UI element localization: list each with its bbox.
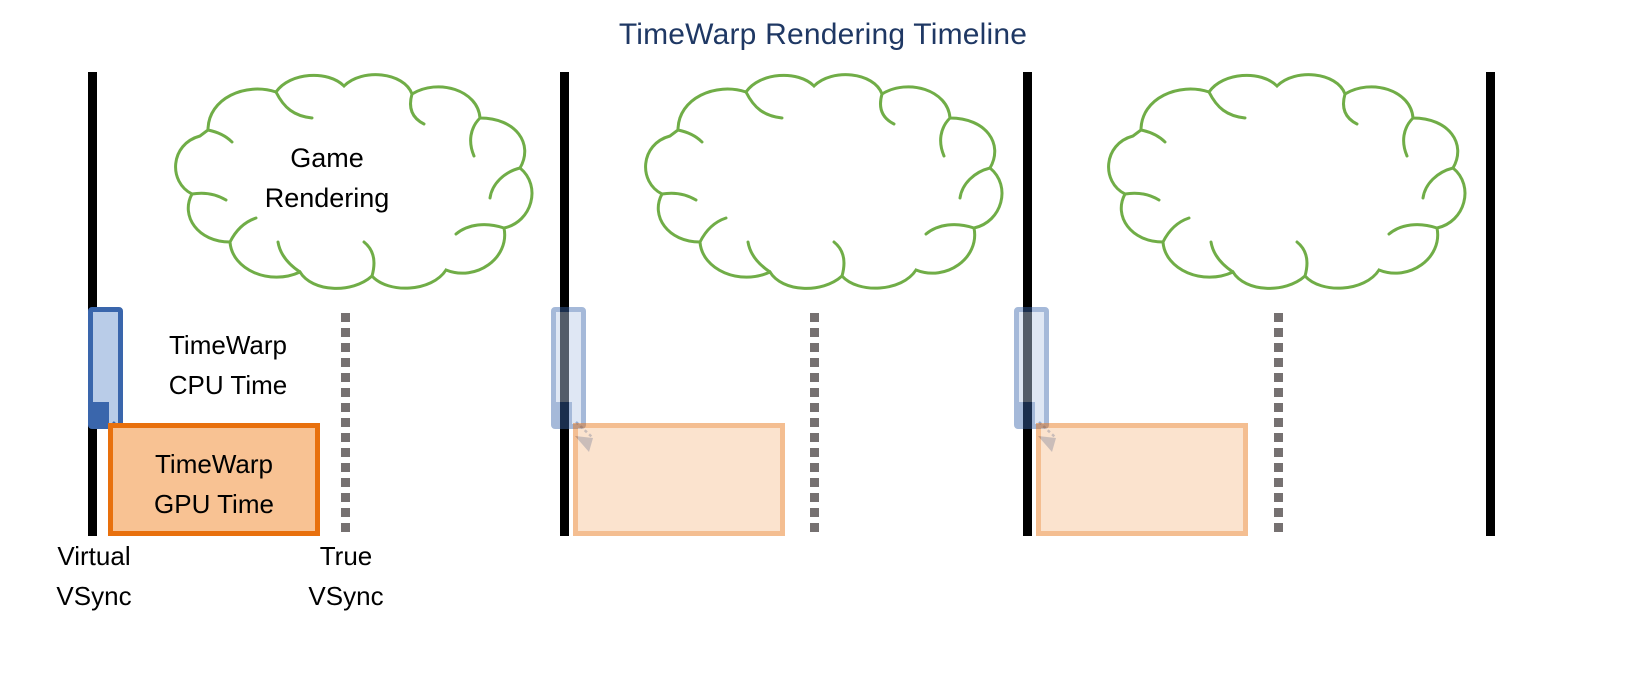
dotted-vertical-line-icon bbox=[1274, 478, 1283, 487]
dotted-vertical-line-icon bbox=[341, 343, 350, 352]
timewarp-cpu-box bbox=[1014, 307, 1049, 429]
game-rendering-cloud bbox=[582, 70, 1012, 290]
dotted-vertical-line-icon bbox=[1274, 388, 1283, 397]
dotted-vertical-line-icon bbox=[810, 508, 819, 517]
dotted-vertical-line-icon bbox=[810, 343, 819, 352]
true-vsync-dotted-line bbox=[1274, 313, 1283, 538]
dotted-vertical-line-icon bbox=[1274, 403, 1283, 412]
dotted-vertical-line-icon bbox=[810, 448, 819, 457]
dotted-vertical-line-icon bbox=[1274, 328, 1283, 337]
dotted-vertical-line-icon bbox=[1274, 493, 1283, 502]
dotted-vertical-line-icon bbox=[341, 508, 350, 517]
dotted-vertical-line-icon bbox=[1274, 313, 1283, 322]
dotted-vertical-line-icon bbox=[1274, 523, 1283, 532]
timewarp-cpu-box bbox=[88, 307, 123, 429]
page-title: TimeWarp Rendering Timeline bbox=[0, 18, 1646, 52]
cloud-shape-icon bbox=[582, 70, 1012, 290]
game-rendering-cloud bbox=[1045, 70, 1475, 290]
dotted-vertical-line-icon bbox=[810, 463, 819, 472]
virtual-vsync-bar bbox=[560, 72, 569, 536]
dotted-vertical-line-icon bbox=[810, 328, 819, 337]
dotted-vertical-line-icon bbox=[341, 463, 350, 472]
timewarp-cpu-box bbox=[551, 307, 586, 429]
cpu-notch-icon bbox=[556, 402, 572, 424]
cpu-notch-icon bbox=[1019, 402, 1035, 424]
dotted-vertical-line-icon bbox=[341, 448, 350, 457]
virtual-vsync-bar bbox=[88, 72, 97, 536]
dotted-vertical-line-icon bbox=[341, 403, 350, 412]
timewarp-gpu-box bbox=[573, 423, 785, 536]
dotted-vertical-line-icon bbox=[341, 358, 350, 367]
diagram-canvas: TimeWarp Rendering Timeline Game Renderi… bbox=[0, 0, 1646, 675]
dotted-vertical-line-icon bbox=[1274, 343, 1283, 352]
dotted-vertical-line-icon bbox=[1274, 358, 1283, 367]
dotted-vertical-line-icon bbox=[810, 373, 819, 382]
dotted-vertical-line-icon bbox=[810, 358, 819, 367]
virtual-vsync-bar bbox=[1486, 72, 1495, 536]
cloud-shape-icon bbox=[1045, 70, 1475, 290]
dotted-vertical-line-icon bbox=[810, 523, 819, 532]
dotted-vertical-line-icon bbox=[1274, 463, 1283, 472]
dotted-vertical-line-icon bbox=[810, 388, 819, 397]
virtual-vsync-bar bbox=[1023, 72, 1032, 536]
timewarp-gpu-label: TimeWarp GPU Time bbox=[113, 444, 315, 524]
dotted-vertical-line-icon bbox=[341, 493, 350, 502]
dotted-vertical-line-icon bbox=[341, 373, 350, 382]
dotted-vertical-line-icon bbox=[341, 388, 350, 397]
dotted-vertical-line-icon bbox=[1274, 508, 1283, 517]
dotted-vertical-line-icon bbox=[341, 313, 350, 322]
game-rendering-cloud: Game Rendering bbox=[112, 70, 542, 290]
dotted-vertical-line-icon bbox=[1274, 373, 1283, 382]
dotted-vertical-line-icon bbox=[810, 403, 819, 412]
timewarp-gpu-box: TimeWarp GPU Time bbox=[108, 423, 320, 536]
timewarp-cpu-label: TimeWarp CPU Time bbox=[133, 325, 323, 405]
dotted-vertical-line-icon bbox=[341, 478, 350, 487]
true-vsync-caption: True VSync bbox=[286, 536, 406, 616]
dotted-vertical-line-icon bbox=[1274, 418, 1283, 427]
dotted-vertical-line-icon bbox=[810, 313, 819, 322]
timewarp-gpu-box bbox=[1036, 423, 1248, 536]
dotted-vertical-line-icon bbox=[341, 433, 350, 442]
dotted-vertical-line-icon bbox=[341, 328, 350, 337]
dotted-vertical-line-icon bbox=[810, 493, 819, 502]
game-rendering-label: Game Rendering bbox=[112, 138, 542, 218]
true-vsync-dotted-line bbox=[810, 313, 819, 538]
dotted-vertical-line-icon bbox=[341, 418, 350, 427]
dotted-vertical-line-icon bbox=[810, 418, 819, 427]
dotted-vertical-line-icon bbox=[341, 523, 350, 532]
dotted-vertical-line-icon bbox=[1274, 448, 1283, 457]
true-vsync-dotted-line bbox=[341, 313, 350, 538]
dotted-vertical-line-icon bbox=[1274, 433, 1283, 442]
virtual-vsync-caption: Virtual VSync bbox=[34, 536, 154, 616]
dotted-vertical-line-icon bbox=[810, 478, 819, 487]
cpu-notch-icon bbox=[93, 402, 109, 424]
dotted-vertical-line-icon bbox=[810, 433, 819, 442]
